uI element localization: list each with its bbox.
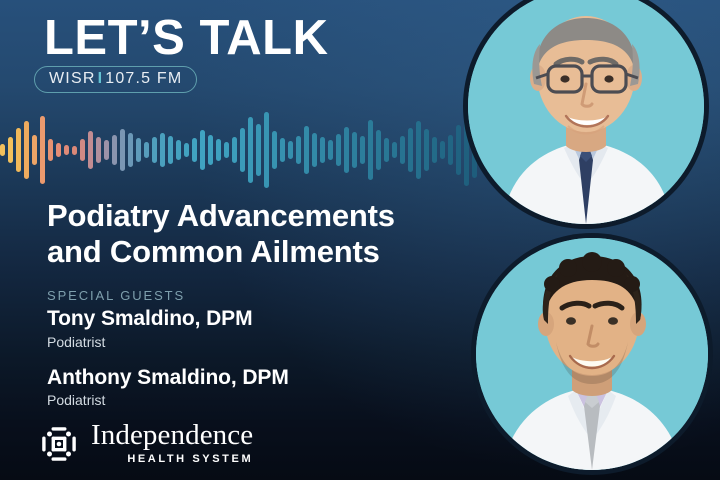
waveform-bar	[304, 126, 309, 174]
guest-entry: Anthony Smaldino, DPM Podiatrist	[47, 365, 447, 411]
waveform-bar	[216, 139, 221, 161]
waveform-bar	[440, 141, 445, 159]
waveform-bar	[424, 129, 429, 171]
waveform-bar	[160, 133, 165, 167]
waveform-bar	[456, 125, 461, 175]
portrait-photo	[476, 238, 708, 470]
waveform-bar	[272, 131, 277, 169]
station-separator: I	[96, 70, 106, 87]
guest-role: Podiatrist	[47, 391, 447, 410]
waveform-bar	[392, 142, 397, 158]
waveform-bar	[288, 141, 293, 159]
waveform-bar	[112, 135, 117, 165]
episode-title: Podiatry Advancements and Common Ailment…	[47, 198, 467, 271]
waveform-bar	[224, 142, 229, 158]
station-call-sign: WISR	[49, 70, 96, 87]
guest-portrait-tony-smaldino	[468, 0, 704, 224]
waveform-bar	[40, 116, 45, 184]
waveform-bar	[240, 128, 245, 172]
waveform-bar	[136, 138, 141, 162]
waveform-bar	[448, 135, 453, 165]
guest-name: Anthony Smaldino, DPM	[47, 365, 447, 391]
logo-wordmark: Independence	[91, 421, 253, 450]
waveform-bar	[368, 120, 373, 180]
waveform-bar	[192, 138, 197, 162]
guest-list: SPECIAL GUESTS Tony Smaldino, DPM Podiat…	[47, 288, 447, 410]
waveform-bar	[8, 137, 13, 163]
independence-network-mark-icon	[38, 423, 80, 465]
waveform-bar	[120, 129, 125, 171]
waveform-bar	[256, 124, 261, 176]
waveform-bar	[328, 140, 333, 160]
podcast-episode-poster: LET’S TALK WISRI107.5 FM Podiatry Advanc…	[0, 0, 720, 480]
waveform-bar	[128, 133, 133, 167]
waveform-bar	[208, 135, 213, 165]
station-badge: WISRI107.5 FM	[34, 66, 197, 93]
waveform-bar	[104, 140, 109, 160]
waveform-bar	[360, 136, 365, 164]
waveform-bar	[232, 137, 237, 163]
waveform-bar	[152, 137, 157, 163]
waveform-bar	[56, 143, 61, 157]
waveform-bar	[72, 146, 77, 155]
guest-name: Tony Smaldino, DPM	[47, 306, 447, 332]
waveform-bar	[384, 138, 389, 162]
independence-health-system-logo: Independence HEALTH SYSTEM	[38, 421, 253, 465]
guest-list-label: SPECIAL GUESTS	[47, 288, 447, 303]
waveform-bar	[416, 121, 421, 179]
waveform-bar	[88, 131, 93, 169]
waveform-bar	[32, 135, 37, 165]
waveform-bar	[184, 143, 189, 157]
waveform-bar	[176, 140, 181, 160]
waveform-bar	[96, 137, 101, 163]
station-frequency: 107.5 FM	[105, 70, 182, 87]
waveform-bar	[312, 133, 317, 167]
waveform-bar	[80, 139, 85, 161]
guest-role: Podiatrist	[47, 333, 447, 352]
show-title: LET’S TALK	[44, 14, 328, 63]
waveform-bar	[296, 136, 301, 164]
waveform-bar	[24, 121, 29, 179]
episode-title-line-1: Podiatry Advancements	[47, 198, 395, 233]
waveform-bar	[64, 145, 69, 155]
waveform-bar	[376, 130, 381, 170]
portrait-illustration-senior-doctor	[468, 0, 704, 224]
logo-tagline: HEALTH SYSTEM	[91, 453, 253, 465]
waveform-bar	[16, 128, 21, 172]
waveform-bar	[0, 144, 5, 156]
waveform-bar	[400, 136, 405, 164]
waveform-bar	[200, 130, 205, 170]
waveform-bar	[248, 117, 253, 183]
portrait-photo	[468, 0, 704, 224]
waveform-bar	[280, 138, 285, 162]
waveform-bar	[320, 137, 325, 163]
waveform-bar	[48, 139, 53, 161]
waveform-bar	[408, 128, 413, 172]
guest-entry: Tony Smaldino, DPM Podiatrist	[47, 306, 447, 352]
episode-title-line-2: and Common Ailments	[47, 234, 467, 270]
waveform-bar	[336, 134, 341, 166]
waveform-bar	[432, 137, 437, 163]
guest-portrait-anthony-smaldino	[476, 238, 708, 470]
waveform-bar	[264, 112, 269, 188]
waveform-bar	[168, 136, 173, 164]
waveform-bar	[352, 132, 357, 168]
waveform-bar	[144, 142, 149, 158]
logo-text-block: Independence HEALTH SYSTEM	[91, 421, 253, 465]
portrait-illustration-young-doctor	[476, 238, 708, 470]
waveform-bar	[344, 127, 349, 173]
